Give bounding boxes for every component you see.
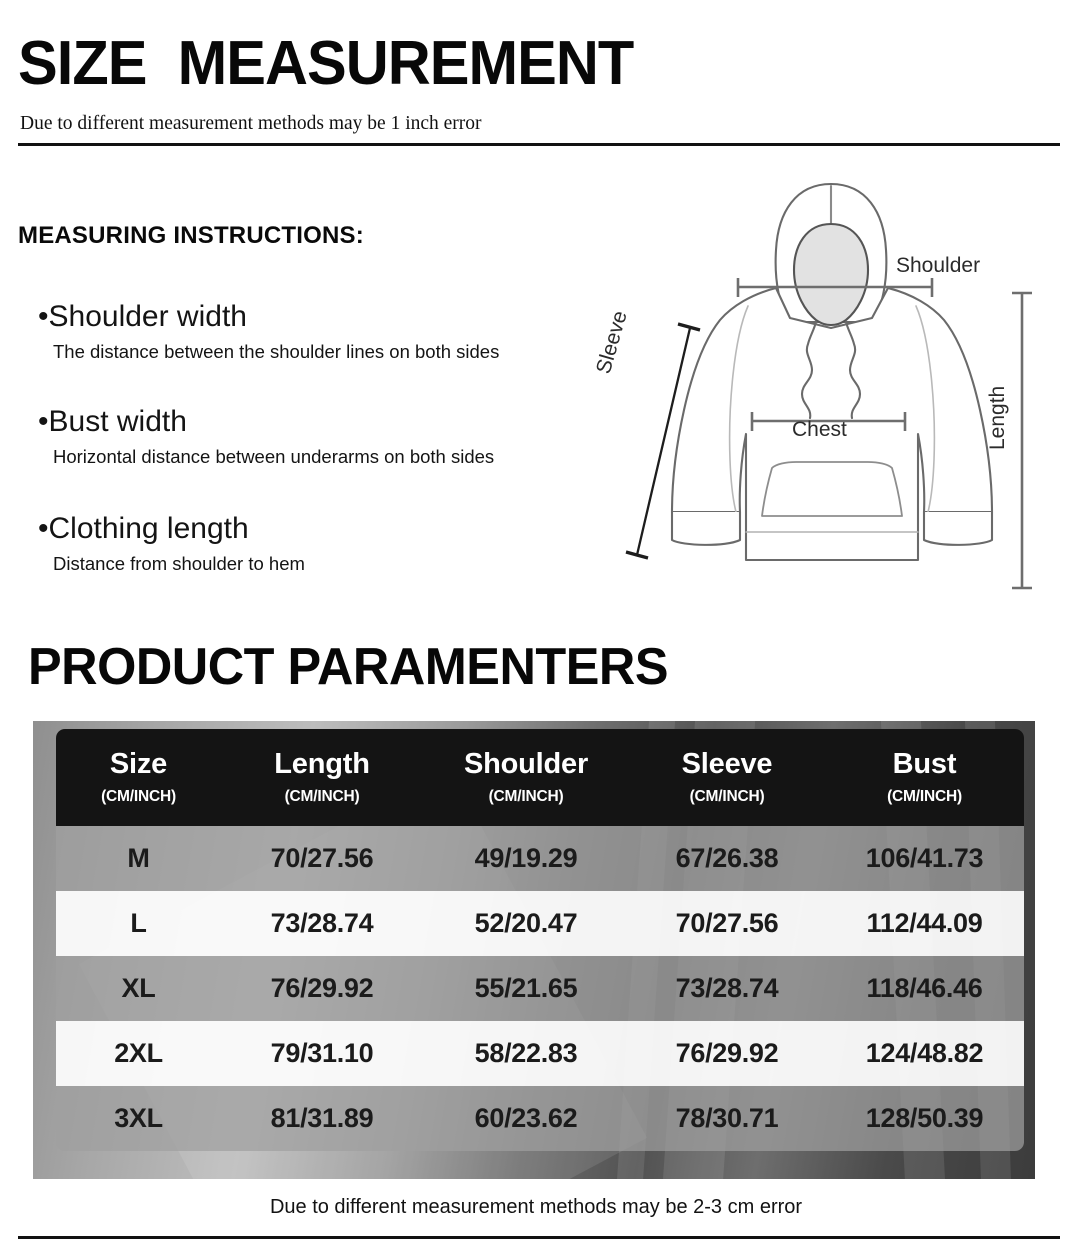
cell-size: L [56, 908, 221, 939]
page-title: SIZE MEASUREMENT [18, 33, 633, 95]
cell-shoulder: 58/22.83 [423, 1038, 629, 1069]
instructions-heading: MEASURING INSTRUCTIONS: [18, 222, 364, 250]
table-header-cell-shoulder: Shoulder (CM/INCH) [423, 749, 629, 805]
table-header-cell-size: Size (CM/INCH) [56, 749, 221, 805]
header-unit: (CM/INCH) [629, 788, 825, 806]
cell-shoulder: 52/20.47 [423, 908, 629, 939]
instruction-title: •Bust width [38, 405, 494, 440]
header-label: Bust [825, 749, 1024, 779]
product-parameters-title: PRODUCT PARAMENTERS [28, 641, 668, 693]
cell-bust: 112/44.09 [825, 908, 1024, 939]
chest-dimension-label: Chest [792, 418, 847, 442]
header-label: Shoulder [423, 749, 629, 779]
front-pocket [762, 462, 902, 516]
table-header-cell-sleeve: Sleeve (CM/INCH) [629, 749, 825, 805]
header-unit: (CM/INCH) [56, 788, 221, 806]
cell-sleeve: 73/28.74 [629, 973, 825, 1004]
table-row: M 70/27.56 49/19.29 67/26.38 106/41.73 [56, 826, 1024, 891]
cell-bust: 128/50.39 [825, 1103, 1024, 1134]
instruction-item-bust-width: •Bust width Horizontal distance between … [38, 405, 494, 467]
instruction-item-shoulder-width: •Shoulder width The distance between the… [38, 300, 499, 362]
cell-bust: 124/48.82 [825, 1038, 1024, 1069]
cell-sleeve: 67/26.38 [629, 843, 825, 874]
instruction-description: Distance from shoulder to hem [53, 554, 305, 574]
cell-length: 76/29.92 [221, 973, 423, 1004]
table-row: 2XL 79/31.10 58/22.83 76/29.92 124/48.82 [56, 1021, 1024, 1086]
cell-length: 79/31.10 [221, 1038, 423, 1069]
table-header-cell-length: Length (CM/INCH) [221, 749, 423, 805]
cell-shoulder: 49/19.29 [423, 843, 629, 874]
instruction-title: •Shoulder width [38, 300, 499, 335]
cell-size: 3XL [56, 1103, 221, 1134]
table-header-cell-bust: Bust (CM/INCH) [825, 749, 1024, 805]
header-label: Size [56, 749, 221, 779]
header-subtitle: Due to different measurement methods may… [20, 113, 482, 135]
size-table: Size (CM/INCH) Length (CM/INCH) Shoulder… [56, 729, 1024, 1170]
hoodie-illustration-svg [600, 160, 1065, 605]
header-label: Sleeve [629, 749, 825, 779]
table-row: L 73/28.74 52/20.47 70/27.56 112/44.09 [56, 891, 1024, 956]
instruction-title: •Clothing length [38, 512, 305, 547]
table-row: XL 76/29.92 55/21.65 73/28.74 118/46.46 [56, 956, 1024, 1021]
cell-sleeve: 70/27.56 [629, 908, 825, 939]
cell-bust: 106/41.73 [825, 843, 1024, 874]
instruction-description: The distance between the shoulder lines … [53, 342, 499, 362]
length-dimension-label: Length [986, 386, 1010, 450]
instruction-item-clothing-length: •Clothing length Distance from shoulder … [38, 512, 305, 574]
cell-size: M [56, 843, 221, 874]
cell-length: 73/28.74 [221, 908, 423, 939]
table-row: 3XL 81/31.89 60/23.62 78/30.71 128/50.39 [56, 1086, 1024, 1151]
cell-length: 81/31.89 [221, 1103, 423, 1134]
header-unit: (CM/INCH) [825, 788, 1024, 806]
cell-size: XL [56, 973, 221, 1004]
shoulder-dimension-label: Shoulder [896, 254, 980, 278]
cell-sleeve: 78/30.71 [629, 1103, 825, 1134]
header-label: Length [221, 749, 423, 779]
cell-bust: 118/46.46 [825, 973, 1024, 1004]
hoodie-diagram: Shoulder Chest Sleeve Length [600, 160, 1065, 605]
cell-size: 2XL [56, 1038, 221, 1069]
left-cuff [672, 512, 740, 545]
table-header-row: Size (CM/INCH) Length (CM/INCH) Shoulder… [56, 729, 1024, 826]
footer-note: Due to different measurement methods may… [0, 1196, 1072, 1219]
cell-shoulder: 60/23.62 [423, 1103, 629, 1134]
header-unit: (CM/INCH) [423, 788, 629, 806]
size-chart-page: SIZE MEASUREMENT Due to different measur… [0, 0, 1072, 1259]
right-cuff [924, 512, 992, 545]
cell-sleeve: 76/29.92 [629, 1038, 825, 1069]
footer-divider [18, 1236, 1060, 1239]
cell-shoulder: 55/21.65 [423, 973, 629, 1004]
header-unit: (CM/INCH) [221, 788, 423, 806]
cell-length: 70/27.56 [221, 843, 423, 874]
instruction-description: Horizontal distance between underarms on… [53, 447, 494, 467]
header-divider [18, 143, 1060, 146]
